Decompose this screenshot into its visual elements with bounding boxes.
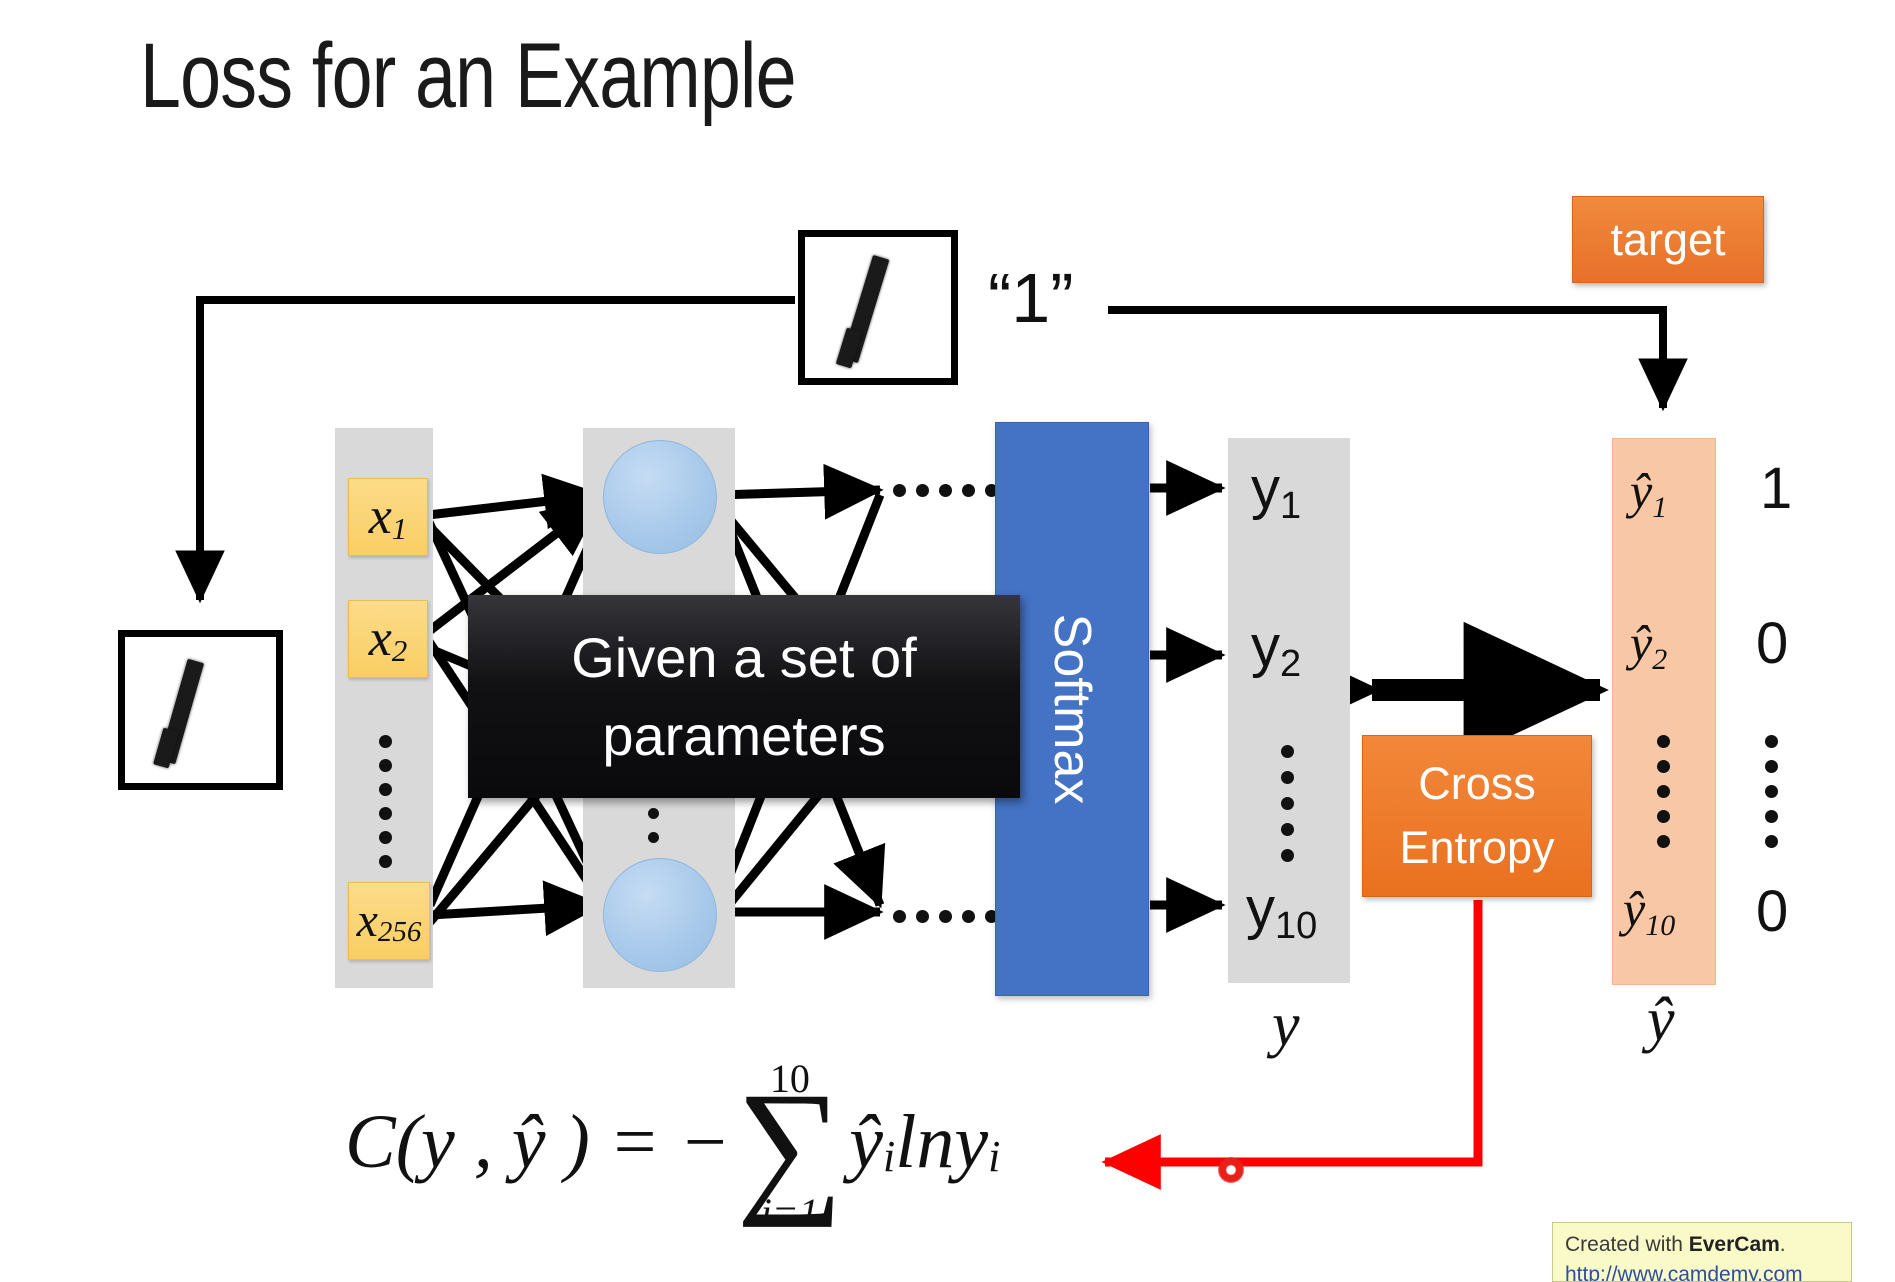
loss-formula-yhat-subscript: i — [883, 1131, 895, 1182]
caption-line2: parameters — [602, 697, 885, 774]
target-values-vertical-ellipsis-icon — [1765, 735, 1778, 848]
watermark-brand: EverCam — [1689, 1233, 1780, 1256]
cross-entropy-box: Cross Entropy — [1362, 735, 1592, 897]
output-label-y10-subscript: 10 — [1275, 905, 1317, 947]
loss-formula-y-subscript: i — [988, 1131, 1000, 1182]
watermark-suffix: . — [1780, 1233, 1786, 1256]
target-label-yhat2: ŷ2 — [1630, 614, 1667, 672]
output-layer-vertical-ellipsis-icon — [1281, 745, 1294, 862]
output-label-y1-base: y — [1251, 456, 1280, 521]
output-label-y10: y10 — [1246, 875, 1317, 942]
mnist-digit-one-image-top — [798, 230, 958, 385]
caption-overlay: Given a set of parameters — [468, 595, 1020, 798]
target-vector-label: ŷ — [1647, 985, 1675, 1056]
evercam-watermark: Created with EverCam. http://www.camdemy… — [1552, 1222, 1852, 1282]
target-label-yhat2-subscript: 2 — [1652, 643, 1667, 676]
output-label-y2-subscript: 2 — [1280, 643, 1301, 685]
target-label-yhat1: ŷ1 — [1630, 462, 1667, 520]
digit-class-label: “1” — [988, 258, 1074, 338]
summation-sigma-icon: ∑ — [736, 1091, 843, 1199]
target-vector-vertical-ellipsis-icon — [1657, 735, 1670, 848]
loss-formula-lny: lny — [895, 1104, 988, 1180]
input-layer-vertical-ellipsis-icon — [379, 735, 392, 868]
cross-entropy-line2: Entropy — [1399, 816, 1554, 880]
input-node-x2-base: x — [369, 613, 392, 665]
target-value-1: 1 — [1760, 455, 1792, 522]
page-title: Loss for an Example — [140, 30, 796, 122]
summation-group: 10 ∑ i=1 — [736, 1059, 843, 1233]
input-node-x1: x1 — [348, 478, 428, 556]
input-node-x256: x256 — [348, 882, 430, 960]
watermark-url: http://www.camdemy.com — [1565, 1263, 1803, 1282]
target-value-2: 0 — [1756, 610, 1788, 677]
summation-lower-limit: i=1 — [761, 1193, 819, 1233]
target-label-yhat1-subscript: 1 — [1652, 491, 1667, 524]
target-badge: target — [1572, 196, 1764, 283]
watermark-prefix: Created with — [1565, 1233, 1689, 1256]
cross-entropy-line1: Cross — [1418, 752, 1536, 816]
hidden-neuron-bottom — [603, 858, 717, 972]
target-value-10: 0 — [1756, 878, 1788, 945]
output-label-y10-base: y — [1246, 876, 1275, 941]
loss-formula: C(y , ŷ ) = − 10 ∑ i=1 ŷilnyi — [345, 1055, 1000, 1229]
input-node-x256-subscript: 256 — [378, 916, 422, 949]
input-node-x2: x2 — [348, 600, 428, 678]
target-label-yhat1-base: ŷ — [1630, 463, 1652, 519]
input-node-x256-base: x — [357, 897, 378, 945]
mnist-digit-one-image-left — [118, 630, 283, 790]
loss-formula-lhs: C(y , ŷ ) = − — [345, 1104, 730, 1180]
output-label-y2-base: y — [1251, 614, 1280, 679]
output-label-y1: y1 — [1251, 455, 1301, 522]
loss-formula-yhat-base: ŷ — [849, 1104, 883, 1180]
mouse-cursor-dot — [1218, 1157, 1244, 1183]
output-label-y1-subscript: 1 — [1280, 485, 1301, 527]
softmax-label: Softmax — [1042, 614, 1102, 805]
target-label-yhat2-base: ŷ — [1630, 615, 1652, 671]
output-label-y2: y2 — [1251, 613, 1301, 680]
output-vector-label: y — [1272, 990, 1300, 1061]
target-label-yhat10-base: ŷ — [1623, 881, 1645, 937]
caption-line1: Given a set of — [571, 619, 917, 696]
input-node-x2-subscript: 2 — [392, 633, 408, 669]
hidden-neuron-top — [603, 440, 717, 554]
target-label-yhat10-subscript: 10 — [1645, 909, 1675, 942]
slide-canvas: Loss for an Example — [0, 0, 1895, 1265]
input-node-x1-base: x — [369, 491, 392, 543]
target-label-yhat10: ŷ10 — [1623, 880, 1675, 938]
input-node-x1-subscript: 1 — [392, 511, 408, 547]
